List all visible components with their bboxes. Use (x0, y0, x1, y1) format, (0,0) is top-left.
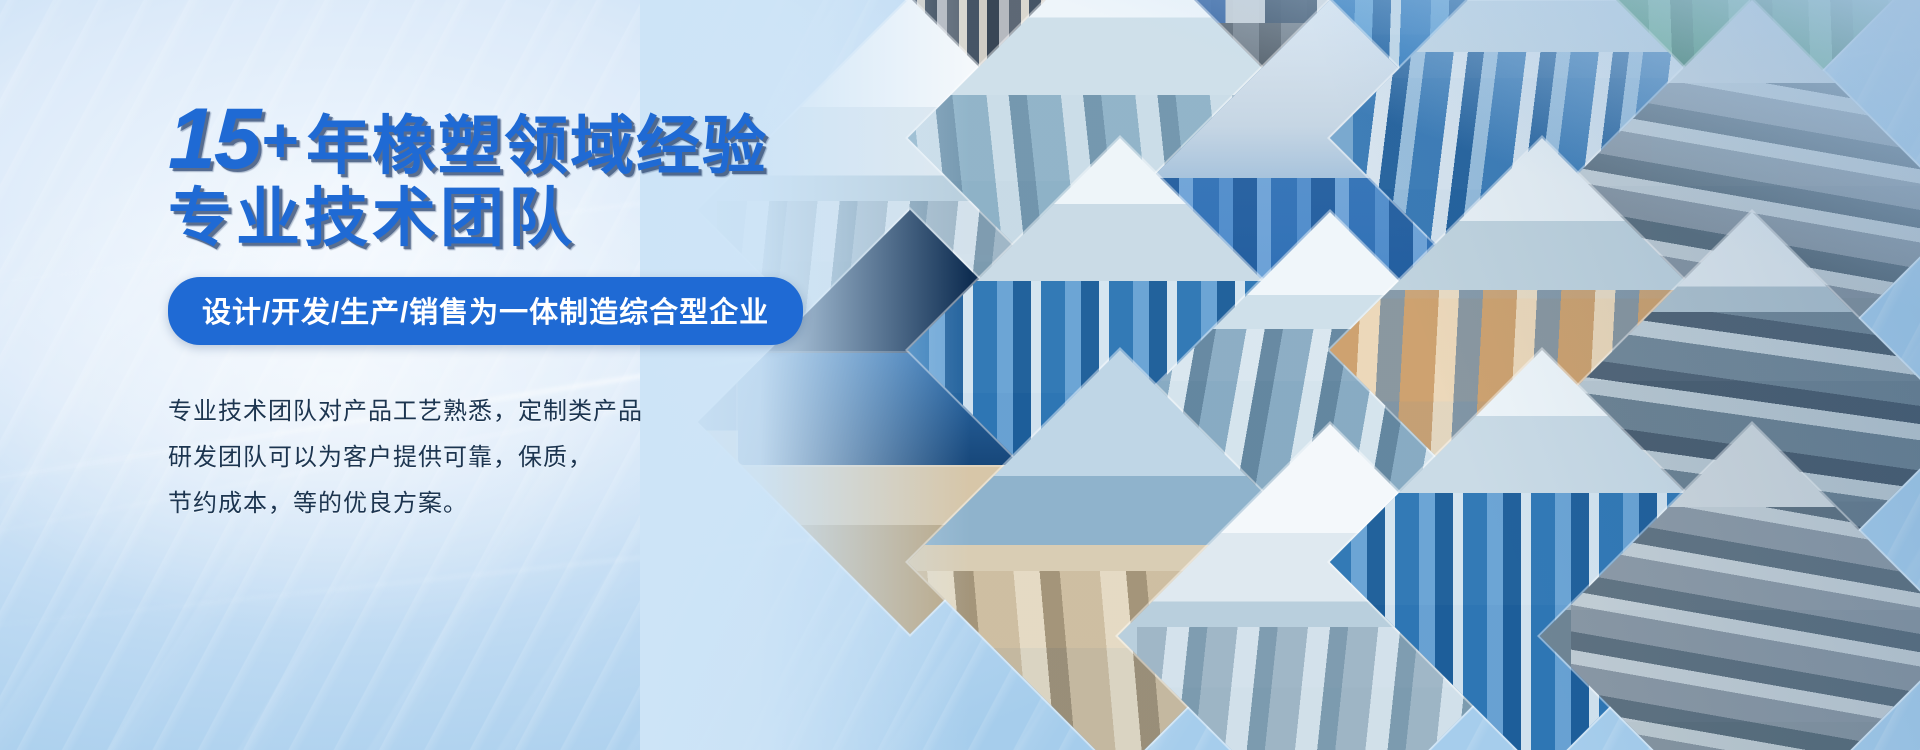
description-line-1: 专业技术团队对产品工艺熟悉，定制类产品 (168, 389, 948, 435)
background-right-shade (1152, 0, 1920, 750)
slogan-pill[interactable]: 设计/开发/生产/销售为一体制造综合型企业 (168, 277, 803, 345)
hero-content: 15+年橡塑领域经验 专业技术团队 设计/开发/生产/销售为一体制造综合型企业 … (168, 96, 948, 527)
headline-plus-sign: + (262, 104, 300, 176)
headline-line-2: 专业技术团队 (168, 186, 948, 251)
company-hero-banner: 15+年橡塑领域经验 专业技术团队 设计/开发/生产/销售为一体制造综合型企业 … (0, 0, 1920, 750)
headline-line-1-text: 年橡塑领域经验 (306, 110, 768, 182)
description-line-2: 研发团队可以为客户提供可靠，保质， (168, 435, 948, 481)
description-paragraph: 专业技术团队对产品工艺熟悉，定制类产品 研发团队可以为客户提供可靠，保质， 节约… (168, 389, 948, 527)
headline-years-number: 15 (168, 91, 260, 187)
description-line-3: 节约成本，等的优良方案。 (168, 481, 948, 527)
headline-line-1: 15+年橡塑领域经验 (168, 96, 948, 184)
